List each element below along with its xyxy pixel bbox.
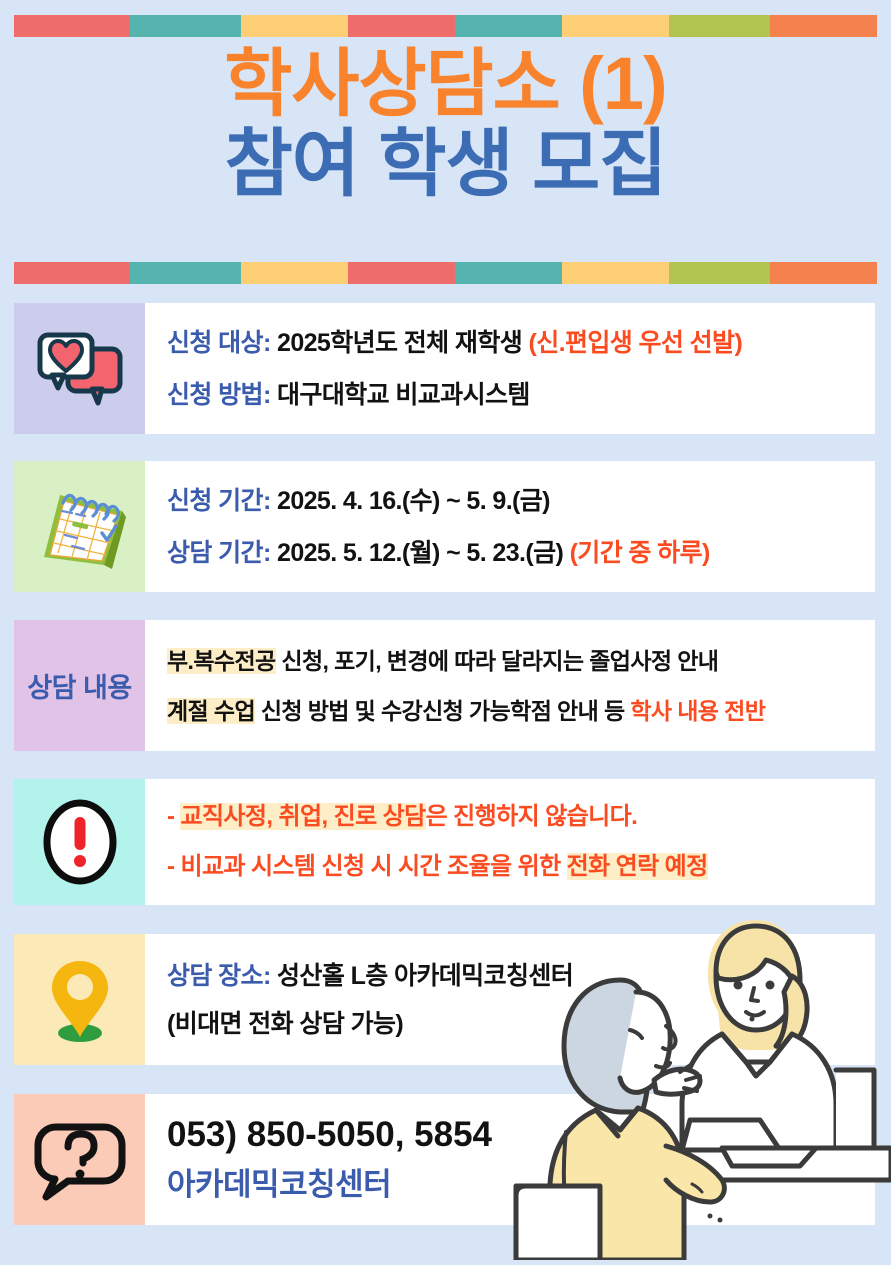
color-segment bbox=[241, 262, 348, 284]
calendar-icon bbox=[14, 461, 145, 592]
consult-period-note: (기간 중 하루) bbox=[570, 539, 710, 567]
application-target-note: (신.편입생 우선 선발) bbox=[528, 329, 742, 357]
notice-line-2-text: 비교과 시스템 신청 시 시간 조율을 위한 bbox=[180, 853, 566, 880]
color-segment bbox=[130, 15, 241, 37]
color-segment bbox=[770, 15, 877, 37]
exclamation-circle-icon bbox=[14, 779, 145, 905]
application-method-value: 대구대학교 비교과시스템 bbox=[271, 381, 530, 409]
consult-period-label: 상담 기간: bbox=[167, 539, 271, 567]
color-segment bbox=[14, 15, 130, 37]
color-segment bbox=[130, 262, 241, 284]
info-row-notice: - 교직사정, 취업, 진로 상담은 진행하지 않습니다. - 비교과 시스템 … bbox=[14, 779, 875, 905]
application-period-value: 2025. 4. 16.(수) ~ 5. 9.(금) bbox=[271, 487, 550, 515]
notice-line-1-highlight: 교직사정, 취업, 진로 상담 bbox=[180, 803, 425, 830]
notice-line-1-dash: - bbox=[167, 803, 180, 830]
contact-center-name: 아카데믹코칭센터 bbox=[167, 1160, 875, 1210]
color-segment bbox=[348, 262, 455, 284]
color-segment bbox=[455, 15, 562, 37]
poster-title: 학사상담소 (1) 참여 학생 모집 bbox=[0, 44, 891, 204]
place-line-1: 상담 장소: 성산홀 L층 아카데믹코칭센터 bbox=[167, 952, 875, 1000]
content-line-2-highlight: 계절 수업 bbox=[167, 698, 255, 724]
info-row-place: 상담 장소: 성산홀 L층 아카데믹코칭센터 (비대면 전화 상담 가능) bbox=[14, 934, 875, 1065]
content-line-1-rest: 신청, 포기, 변경에 따라 달라지는 졸업사정 안내 bbox=[276, 648, 719, 674]
color-segment bbox=[770, 262, 877, 284]
color-segment bbox=[562, 262, 669, 284]
contact-phone: 053) 850-5050, 5854 bbox=[167, 1110, 875, 1160]
color-segment bbox=[455, 262, 562, 284]
info-row-place-body: 상담 장소: 성산홀 L층 아카데믹코칭센터 (비대면 전화 상담 가능) bbox=[145, 934, 875, 1065]
consult-period-value: 2025. 5. 12.(월) ~ 5. 23.(금) bbox=[271, 539, 570, 567]
place-note: (비대면 전화 상담 가능) bbox=[167, 1010, 403, 1038]
location-pin-icon bbox=[14, 934, 145, 1065]
place-line-2: (비대면 전화 상담 가능) bbox=[167, 1000, 875, 1048]
notice-line-2-highlight: 전화 연락 예정 bbox=[567, 853, 708, 880]
info-row-content: 상담 내용 부.복수전공 신청, 포기, 변경에 따라 달라지는 졸업사정 안내… bbox=[14, 620, 875, 751]
place-label: 상담 장소: bbox=[167, 962, 271, 990]
application-method-label: 신청 방법: bbox=[167, 381, 271, 409]
content-line-2-note: 학사 내용 전반 bbox=[630, 698, 765, 724]
info-row-content-body: 부.복수전공 신청, 포기, 변경에 따라 달라지는 졸업사정 안내 계절 수업… bbox=[145, 620, 875, 751]
info-row-period: 신청 기간: 2025. 4. 16.(수) ~ 5. 9.(금) 상담 기간:… bbox=[14, 461, 875, 592]
content-label: 상담 내용 bbox=[27, 666, 131, 705]
color-segment bbox=[241, 15, 348, 37]
color-bar-top bbox=[14, 15, 877, 37]
application-period-label: 신청 기간: bbox=[167, 487, 271, 515]
content-label-cell: 상담 내용 bbox=[14, 620, 145, 751]
color-segment bbox=[348, 15, 455, 37]
color-bar-bottom bbox=[14, 262, 877, 284]
info-row-application: 신청 대상: 2025학년도 전체 재학생 (신.편입생 우선 선발) 신청 방… bbox=[14, 303, 875, 434]
color-segment bbox=[14, 262, 130, 284]
notice-line-1: - 교직사정, 취업, 진로 상담은 진행하지 않습니다. bbox=[167, 792, 875, 842]
application-period-line: 신청 기간: 2025. 4. 16.(수) ~ 5. 9.(금) bbox=[167, 475, 875, 527]
color-segment bbox=[669, 262, 771, 284]
application-method-line: 신청 방법: 대구대학교 비교과시스템 bbox=[167, 369, 875, 421]
info-row-application-body: 신청 대상: 2025학년도 전체 재학생 (신.편입생 우선 선발) 신청 방… bbox=[145, 303, 875, 434]
application-target-value: 2025학년도 전체 재학생 bbox=[271, 329, 529, 357]
application-target-label: 신청 대상: bbox=[167, 329, 271, 357]
consult-period-line: 상담 기간: 2025. 5. 12.(월) ~ 5. 23.(금) (기간 중… bbox=[167, 527, 875, 579]
info-row-notice-body: - 교직사정, 취업, 진로 상담은 진행하지 않습니다. - 비교과 시스템 … bbox=[145, 779, 875, 905]
place-value: 성산홀 L층 아카데믹코칭센터 bbox=[271, 962, 574, 990]
content-line-2: 계절 수업 신청 방법 및 수강신청 가능학점 안내 등 학사 내용 전반 bbox=[167, 686, 875, 736]
application-target-line: 신청 대상: 2025학년도 전체 재학생 (신.편입생 우선 선발) bbox=[167, 317, 875, 369]
content-line-2-rest: 신청 방법 및 수강신청 가능학점 안내 등 bbox=[255, 698, 630, 724]
notice-line-2-dash: - bbox=[167, 853, 180, 880]
info-row-contact: 053) 850-5050, 5854 아카데믹코칭센터 bbox=[14, 1094, 875, 1225]
color-segment bbox=[562, 15, 669, 37]
notice-line-1-rest: 은 진행하지 않습니다. bbox=[426, 803, 638, 830]
content-line-1-highlight: 부.복수전공 bbox=[167, 648, 276, 674]
title-line-primary: 학사상담소 (1) bbox=[0, 44, 891, 124]
color-segment bbox=[669, 15, 771, 37]
title-line-secondary: 참여 학생 모집 bbox=[0, 124, 891, 204]
notice-line-2: - 비교과 시스템 신청 시 시간 조율을 위한 전화 연락 예정 bbox=[167, 842, 875, 892]
content-line-1: 부.복수전공 신청, 포기, 변경에 따라 달라지는 졸업사정 안내 bbox=[167, 636, 875, 686]
chat-heart-icon bbox=[14, 303, 145, 434]
info-row-period-body: 신청 기간: 2025. 4. 16.(수) ~ 5. 9.(금) 상담 기간:… bbox=[145, 461, 875, 592]
question-chat-icon bbox=[14, 1094, 145, 1225]
info-row-contact-body: 053) 850-5050, 5854 아카데믹코칭센터 bbox=[145, 1094, 875, 1225]
